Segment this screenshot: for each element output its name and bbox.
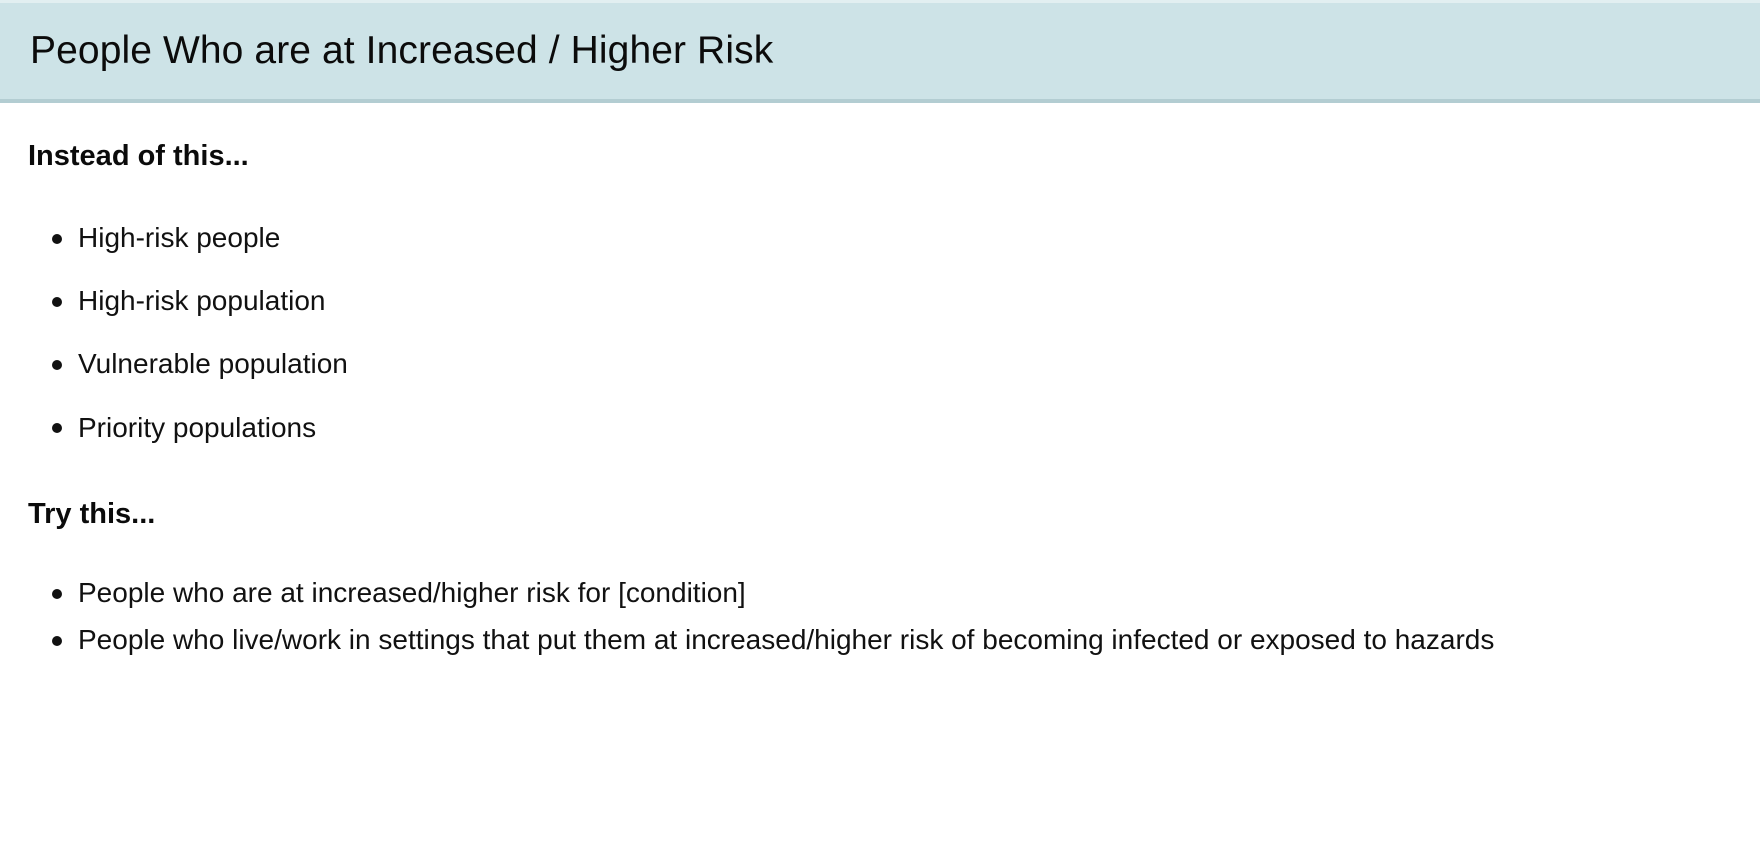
list-item-label: Vulnerable population — [78, 345, 1720, 382]
list-item-label: People who live/work in settings that pu… — [78, 621, 1560, 658]
list-item: Priority populations — [0, 409, 1760, 446]
section-heading-try-this: Try this... — [0, 497, 155, 532]
bullet-list-try-this: People who are at increased/higher risk … — [0, 574, 1760, 668]
bullet-disc-icon — [52, 360, 62, 370]
bullet-list-instead-of-this: High-risk people High-risk population Vu… — [0, 219, 1760, 472]
page-title: People Who are at Increased / Higher Ris… — [0, 30, 773, 73]
bullet-disc-icon — [52, 297, 62, 307]
list-item-label: High-risk people — [78, 219, 1720, 256]
list-item-label: People who are at increased/higher risk … — [78, 574, 1720, 611]
slide-container: People Who are at Increased / Higher Ris… — [0, 0, 1760, 854]
section-heading-instead-of-this: Instead of this... — [0, 139, 249, 174]
list-item: People who live/work in settings that pu… — [0, 621, 1760, 658]
slide-body: Instead of this... High-risk people High… — [0, 103, 1760, 854]
header-band: People Who are at Increased / Higher Ris… — [0, 0, 1760, 103]
bullet-disc-icon — [52, 234, 62, 244]
bullet-disc-icon — [52, 589, 62, 599]
list-item: Vulnerable population — [0, 345, 1760, 382]
list-item-label: Priority populations — [78, 409, 1720, 446]
list-item: People who are at increased/higher risk … — [0, 574, 1760, 611]
bullet-disc-icon — [52, 636, 62, 646]
list-item: High-risk people — [0, 219, 1760, 256]
list-item-label: High-risk population — [78, 282, 1720, 319]
bullet-disc-icon — [52, 423, 62, 433]
list-item: High-risk population — [0, 282, 1760, 319]
